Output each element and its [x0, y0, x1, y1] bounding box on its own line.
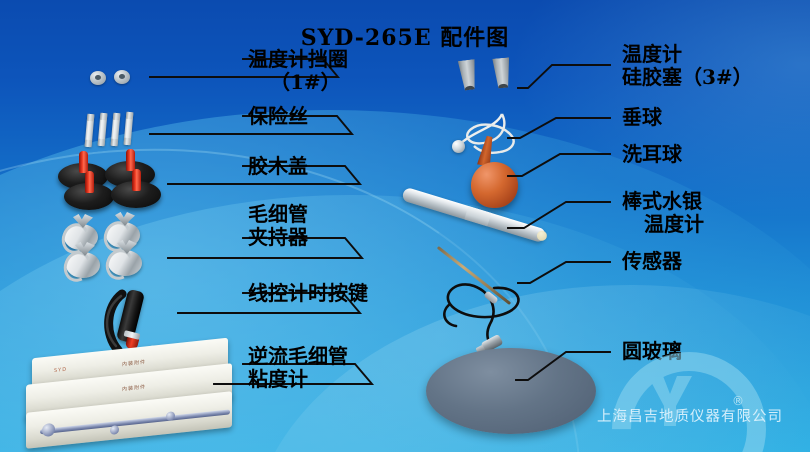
- fuse-1: [85, 114, 95, 147]
- label-line-1: 洗耳球: [622, 142, 682, 166]
- label-line-1: 温度计挡圈: [248, 47, 348, 71]
- capillary-clamp-object: [62, 212, 162, 282]
- label-line-1: 保险丝: [248, 104, 308, 128]
- company-name: 上海昌吉地质仪器有限公司: [576, 405, 804, 426]
- round-glass-object: [424, 346, 600, 438]
- thermometer-scale-segment: [464, 206, 491, 226]
- label-line-2: 粘度计: [248, 368, 348, 391]
- mercury-thermometer-object: [396, 196, 566, 256]
- label-line-1: 温度计: [622, 42, 682, 66]
- cap-nub: [126, 149, 135, 171]
- round-glass-plate: [426, 348, 596, 434]
- cap-nub: [79, 151, 88, 173]
- viscometer-bulb-1: [42, 423, 55, 437]
- label-line-2: 硅胶塞（3#）: [622, 66, 753, 89]
- bakelite-cap-4: [111, 181, 161, 208]
- label-line-1: 垂球: [622, 105, 662, 129]
- bakelite-cap-3: [64, 183, 114, 210]
- thermometer-bulb-tip: [536, 230, 548, 242]
- label-thermometer-ring: 温度计挡圈 （1#）: [248, 48, 348, 94]
- cap-nub: [132, 169, 141, 191]
- label-sensor: 传感器: [622, 250, 682, 273]
- silicone-stopper-2: [491, 57, 514, 89]
- label-bakelite-cap: 胶木盖: [248, 155, 308, 178]
- label-line-2: 夹持器: [248, 226, 308, 249]
- label-line-1: 棒式水银: [622, 189, 702, 213]
- sensor-object: [420, 252, 550, 352]
- label-line-1: 胶木盖: [248, 154, 308, 178]
- label-fuse: 保险丝: [248, 105, 308, 128]
- thermometer-ring-object: [90, 70, 150, 90]
- label-line-1: 逆流毛细管: [248, 344, 348, 368]
- label-suction-bulb: 洗耳球: [622, 143, 682, 166]
- plumb-bob-weight: [452, 140, 465, 153]
- mercury-thermometer-rod: [401, 187, 547, 244]
- fuse-3: [111, 113, 121, 146]
- label-line-2: （1#）: [248, 71, 348, 94]
- label-line-1: 线控计时按键: [248, 281, 368, 305]
- label-capillary-clamp: 毛细管 夹持器: [248, 203, 308, 249]
- label-line-1: 传感器: [622, 249, 682, 273]
- fuse-4: [124, 112, 134, 145]
- washer-2: [114, 70, 130, 84]
- sensor-cable: [420, 252, 550, 352]
- cap-nub: [85, 171, 94, 193]
- label-wired-timer-button: 线控计时按键: [248, 282, 368, 305]
- fuse-2: [98, 113, 108, 146]
- bakelite-cap-object: [58, 155, 168, 215]
- label-reverse-flow-viscometer: 逆流毛细管 粘度计: [248, 345, 348, 391]
- label-plumb-bob: 垂球: [622, 106, 662, 129]
- accessory-diagram: SYD-265E 配件图: [0, 0, 810, 452]
- label-line-1: 毛细管: [248, 202, 308, 226]
- silicone-stopper-object: [458, 58, 528, 98]
- capillary-clamp-4: [106, 240, 144, 276]
- label-silicone-stopper: 温度计 硅胶塞（3#）: [622, 43, 753, 89]
- company-logo: [612, 352, 728, 452]
- washer-1: [90, 71, 106, 85]
- label-mercury-thermometer: 棒式水银 温度计: [622, 190, 704, 236]
- fuse-object: [86, 112, 146, 150]
- label-line-2: 温度计: [622, 213, 704, 236]
- reverse-flow-viscometer-object: SYD 内装附件 内装附件: [18, 348, 238, 448]
- capillary-clamp-3: [64, 242, 102, 278]
- silicone-stopper-1: [456, 59, 480, 91]
